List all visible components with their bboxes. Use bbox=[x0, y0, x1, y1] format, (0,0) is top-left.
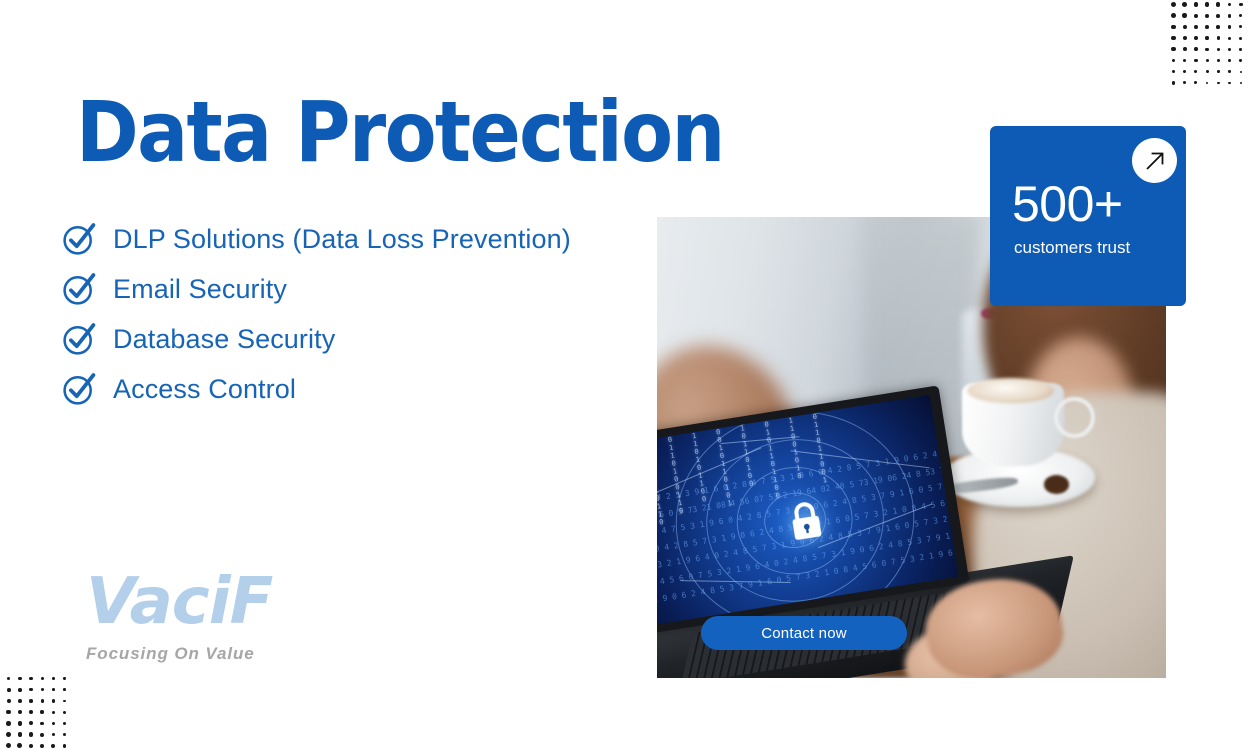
contact-now-button[interactable]: Contact now bbox=[701, 616, 907, 650]
stat-card: 500+ customers trust bbox=[990, 126, 1186, 306]
check-circle-icon bbox=[61, 371, 97, 407]
arrow-up-right-button[interactable] bbox=[1132, 138, 1177, 183]
list-item-label: Access Control bbox=[113, 373, 296, 405]
stat-value: 500+ bbox=[1012, 179, 1123, 229]
dot-grid-bottom-left-icon bbox=[6, 676, 76, 750]
list-item: Email Security bbox=[61, 264, 661, 314]
feature-list: DLP Solutions (Data Loss Prevention) Ema… bbox=[61, 214, 661, 414]
photo-laptop-screen: 4 0 7 2 5 3 9 1 6 0 2 8 4 7 5 3 1 9 6 0 … bbox=[657, 395, 958, 625]
arrow-up-right-icon bbox=[1142, 148, 1168, 174]
list-item: Access Control bbox=[61, 364, 661, 414]
stat-caption: customers trust bbox=[1014, 236, 1134, 260]
list-item-label: Database Security bbox=[113, 323, 335, 355]
check-circle-icon bbox=[61, 321, 97, 357]
list-item-label: DLP Solutions (Data Loss Prevention) bbox=[113, 223, 571, 255]
photo-cup-handle bbox=[1054, 397, 1095, 438]
logo-tagline: Focusing On Value bbox=[86, 644, 272, 664]
list-item: DLP Solutions (Data Loss Prevention) bbox=[61, 214, 661, 264]
check-circle-icon bbox=[61, 271, 97, 307]
logo-wordmark: VaciF bbox=[86, 570, 272, 634]
list-item: Database Security bbox=[61, 314, 661, 364]
page-title: Data Protection bbox=[76, 85, 724, 179]
list-item-label: Email Security bbox=[113, 273, 287, 305]
slide-canvas: Data Protection DLP Solutions (Data Loss… bbox=[0, 0, 1250, 750]
dot-grid-top-right-icon bbox=[1171, 2, 1250, 88]
check-circle-icon bbox=[61, 221, 97, 257]
logo: VaciF Focusing On Value bbox=[86, 570, 272, 664]
